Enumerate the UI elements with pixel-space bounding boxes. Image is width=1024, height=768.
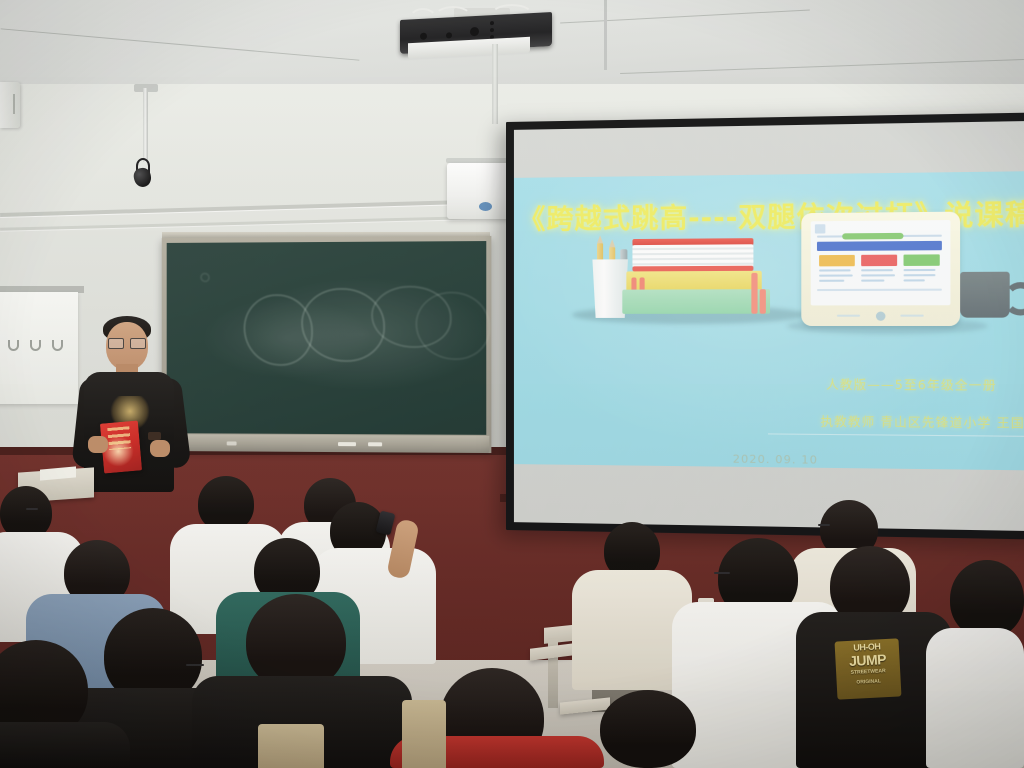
projector-cable bbox=[434, 6, 472, 28]
classroom-photo-scene: 《跨越式跳高----双腿依次过杆》说课稿 bbox=[0, 0, 1024, 768]
glasses-icon bbox=[714, 572, 730, 574]
chalk-piece bbox=[338, 442, 356, 446]
projection-screen[interactable]: 《跨越式跳高----双腿依次过杆》说课稿 bbox=[506, 112, 1024, 539]
presenter-hand-right bbox=[150, 440, 170, 457]
book-icon bbox=[632, 244, 753, 267]
coat-hook-icon bbox=[52, 340, 63, 351]
projector-cable bbox=[408, 8, 438, 34]
chalk-piece bbox=[368, 442, 382, 446]
camera-pole bbox=[143, 88, 148, 162]
tablet-ui-line bbox=[817, 289, 942, 291]
tablet-screen bbox=[811, 220, 951, 305]
slide-subtitle-teacher: 执教教师 青山区先锋道小学 王国 bbox=[821, 412, 1024, 431]
slide-date: 2020. 09. 10 bbox=[733, 452, 818, 466]
tablet-ui-line bbox=[904, 274, 936, 276]
tee-print-line-2: JUMP bbox=[838, 652, 897, 669]
projector-port bbox=[446, 32, 452, 38]
coat-hook-icon bbox=[8, 340, 19, 351]
tablet-ui-bar-blue bbox=[817, 241, 942, 251]
booklet-text-block bbox=[107, 426, 131, 450]
tablet-ui-card-red bbox=[861, 255, 897, 267]
chalk-smudge bbox=[415, 291, 490, 360]
pencil-tip-icon bbox=[609, 239, 615, 247]
coffee-mug-icon bbox=[960, 272, 1010, 318]
student-body bbox=[926, 628, 1024, 768]
projector-cable bbox=[490, 4, 534, 28]
tablet-ui-line bbox=[861, 269, 893, 271]
book-icon bbox=[622, 289, 770, 314]
ceiling-camera bbox=[130, 158, 154, 188]
projector-support-arm bbox=[492, 44, 498, 124]
tee-print-line-3: STREETWEAR bbox=[839, 668, 897, 676]
tablet-decor-line bbox=[900, 315, 923, 317]
tablet-ui-card-green bbox=[904, 254, 940, 266]
pencil-tip-icon bbox=[597, 235, 603, 243]
ac-unit-logo bbox=[479, 202, 492, 211]
slide-divider bbox=[768, 433, 1024, 436]
glasses-icon bbox=[26, 508, 38, 510]
tablet-ui-line bbox=[861, 274, 895, 276]
projector-port bbox=[470, 27, 479, 36]
tablet-ui-line bbox=[904, 279, 925, 281]
glasses-lens bbox=[108, 338, 124, 349]
wall-speaker bbox=[0, 82, 20, 128]
tablet-ui-line bbox=[861, 280, 884, 282]
tablet-ui-line bbox=[819, 280, 844, 282]
student-head bbox=[600, 690, 696, 768]
glasses-icon bbox=[186, 664, 204, 666]
screen-surface: 《跨越式跳高----双腿依次过杆》说课稿 bbox=[514, 121, 1024, 531]
coat-hook-icon bbox=[30, 340, 41, 351]
presenter-hand-left bbox=[88, 436, 108, 453]
green-chalkboard bbox=[162, 236, 492, 453]
chalk-tray bbox=[164, 434, 490, 453]
projector-led bbox=[490, 28, 494, 32]
tablet-device-icon bbox=[801, 212, 960, 326]
ceiling-seam bbox=[604, 0, 607, 70]
glasses-lens bbox=[130, 338, 146, 349]
wristwatch bbox=[148, 432, 161, 440]
tee-print-line-4: ORIGINAL bbox=[840, 678, 898, 686]
presentation-slide: 《跨越式跳高----双腿依次过杆》说课稿 bbox=[514, 171, 1024, 470]
chalk-piece bbox=[227, 441, 237, 445]
tablet-ui-line bbox=[904, 269, 936, 271]
student-body bbox=[0, 722, 130, 768]
tablet-ui-bar-green bbox=[842, 233, 903, 240]
book-spine bbox=[760, 289, 766, 314]
slide-subtitle-edition: 人教版——5至6年级全一册 bbox=[826, 375, 997, 393]
tablet-home-button bbox=[875, 312, 885, 321]
book-spine bbox=[751, 273, 757, 314]
chalk-dot bbox=[200, 272, 210, 282]
tablet-decor-line bbox=[837, 315, 860, 317]
tablet-ui-card-yellow bbox=[819, 255, 855, 267]
chalkboard-surface bbox=[167, 241, 487, 435]
tablet-ui-block bbox=[815, 224, 825, 233]
glasses-icon bbox=[818, 524, 830, 526]
glasses-icon bbox=[108, 338, 146, 347]
student-head bbox=[950, 560, 1024, 638]
ceiling-projector bbox=[394, 8, 560, 60]
tablet-ui-line bbox=[819, 269, 851, 271]
chair-back bbox=[402, 700, 446, 768]
tablet-ui-line bbox=[819, 274, 853, 276]
tshirt-graphic-print: UH-OH JUMP STREETWEAR ORIGINAL bbox=[835, 638, 902, 699]
chair-back bbox=[258, 724, 324, 768]
presenter-teacher bbox=[70, 312, 190, 492]
